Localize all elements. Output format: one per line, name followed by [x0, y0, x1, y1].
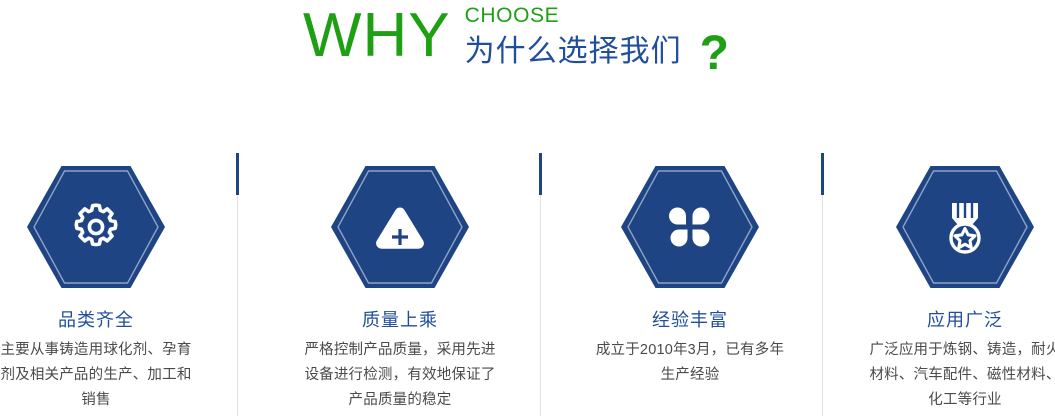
hexagon-badge — [0, 140, 228, 292]
hexagon-badge — [558, 140, 822, 292]
hexagon-badge — [833, 140, 1055, 292]
heading-chinese-row: 为什么选择我们 ? — [465, 30, 729, 74]
feature-title: 经验丰富 — [558, 308, 822, 332]
hexagon-badge — [268, 140, 532, 292]
heading-choose: CHOOSE — [465, 4, 729, 28]
question-mark-icon: ? — [700, 32, 729, 76]
feature-description: 主要从事铸造用球化剂、孕育剂及相关产品的生产、加工和销售 — [0, 338, 228, 413]
feature-title: 应用广泛 — [833, 308, 1055, 332]
feature-column: 品类齐全 主要从事铸造用球化剂、孕育剂及相关产品的生产、加工和销售 — [0, 140, 228, 413]
feature-description: 广泛应用于炼钢、铸造，耐火材料、汽车配件、磁性材料、化工等行业 — [833, 338, 1055, 413]
feature-description: 成立于2010年3月，已有多年生产经验 — [558, 338, 822, 388]
heading-stack: CHOOSE 为什么选择我们 ? — [465, 0, 729, 74]
feature-column: 应用广泛 广泛应用于炼钢、铸造，耐火材料、汽车配件、磁性材料、化工等行业 — [833, 140, 1055, 413]
feature-title: 质量上乘 — [268, 308, 532, 332]
feature-column: 经验丰富 成立于2010年3月，已有多年生产经验 — [558, 140, 822, 388]
feature-columns: 品类齐全 主要从事铸造用球化剂、孕育剂及相关产品的生产、加工和销售 质量上乘 严… — [0, 140, 1055, 416]
medal-star-icon — [896, 166, 1034, 288]
triangle-plus-icon — [331, 166, 469, 288]
heading-chinese: 为什么选择我们 — [465, 34, 682, 70]
heading-inner: WHY CHOOSE 为什么选择我们 ? — [303, 0, 729, 74]
feature-title: 品类齐全 — [0, 308, 228, 332]
feature-column: 质量上乘 严格控制产品质量，采用先进设备进行检测，有效地保证了产品质量的稳定 — [268, 140, 532, 413]
heading-why: WHY — [303, 0, 451, 70]
section-heading: WHY CHOOSE 为什么选择我们 ? — [0, 0, 1055, 90]
four-petal-clover-icon — [621, 166, 759, 288]
gear-icon — [27, 166, 165, 288]
feature-description: 严格控制产品质量，采用先进设备进行检测，有效地保证了产品质量的稳定 — [268, 338, 532, 413]
